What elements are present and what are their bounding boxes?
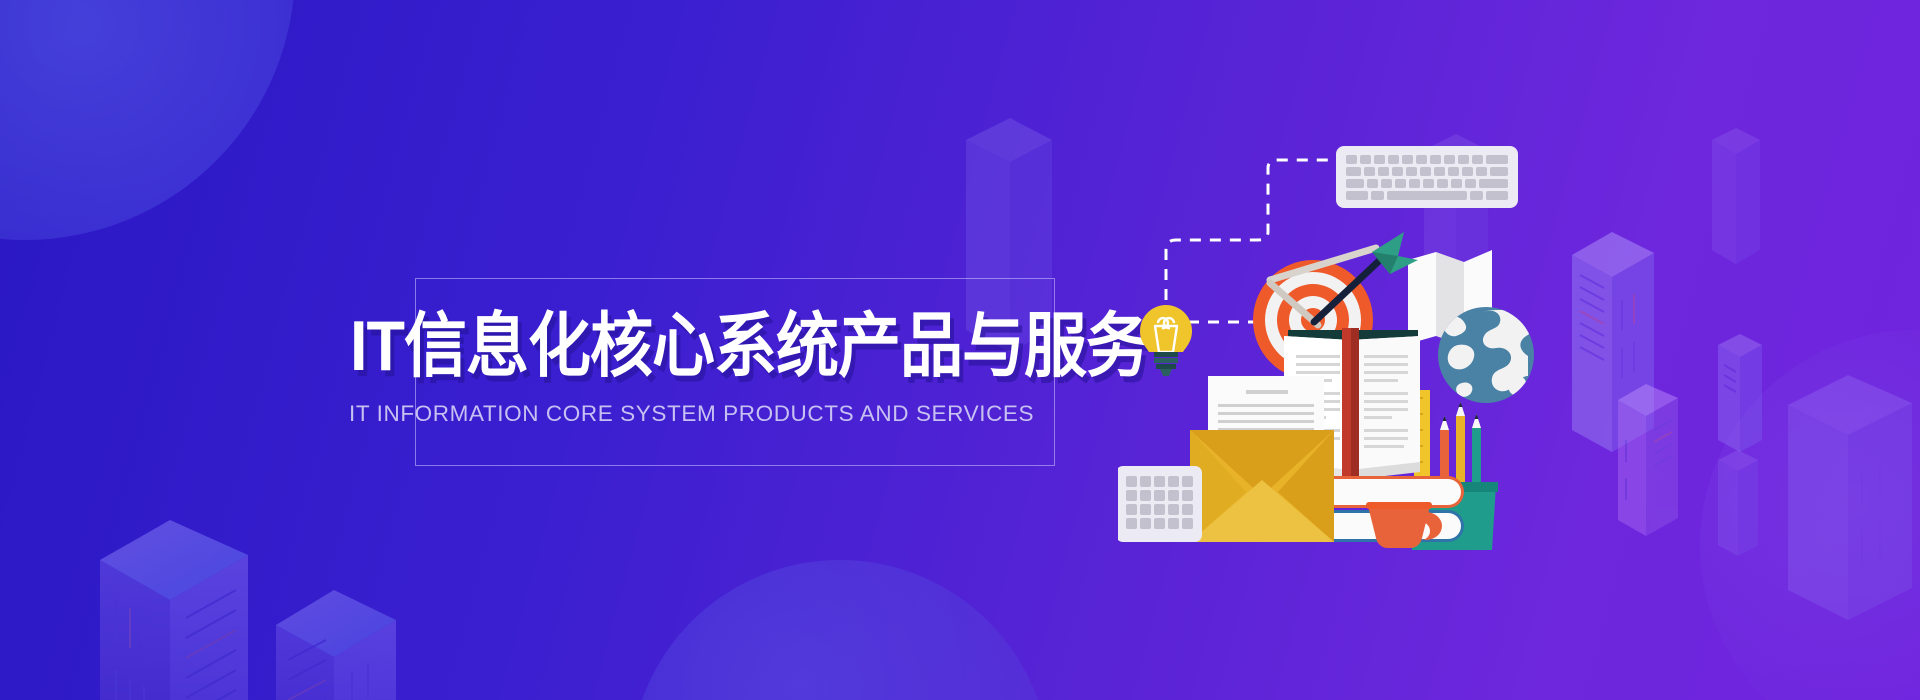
lightbulb-icon — [1140, 305, 1192, 376]
page-subtitle: IT INFORMATION CORE SYSTEM PRODUCTS AND … — [349, 401, 1034, 427]
building-left-tall — [100, 520, 248, 700]
bookmark-icon — [1342, 328, 1359, 500]
building-left-short — [276, 590, 396, 700]
keyboard-bottom-icon — [1118, 466, 1202, 542]
illustration-svg — [1118, 140, 1548, 570]
keyboard-top-icon — [1336, 146, 1518, 208]
envelope-icon — [1190, 430, 1334, 542]
building-right-2 — [1618, 384, 1678, 536]
building-right-4 — [1718, 334, 1762, 452]
headline-block: IT信息化核心系统产品与服务 IT INFORMATION CORE SYSTE… — [415, 278, 1055, 466]
globe-icon — [1438, 307, 1536, 403]
page-title: IT信息化核心系统产品与服务 — [350, 312, 1090, 383]
building-right-3 — [1712, 128, 1760, 264]
illustration — [1118, 140, 1548, 570]
building-right-5 — [1718, 450, 1758, 556]
it-services-banner: IT信息化核心系统产品与服务 IT INFORMATION CORE SYSTE… — [0, 0, 1920, 700]
building-right-6 — [1788, 375, 1912, 620]
